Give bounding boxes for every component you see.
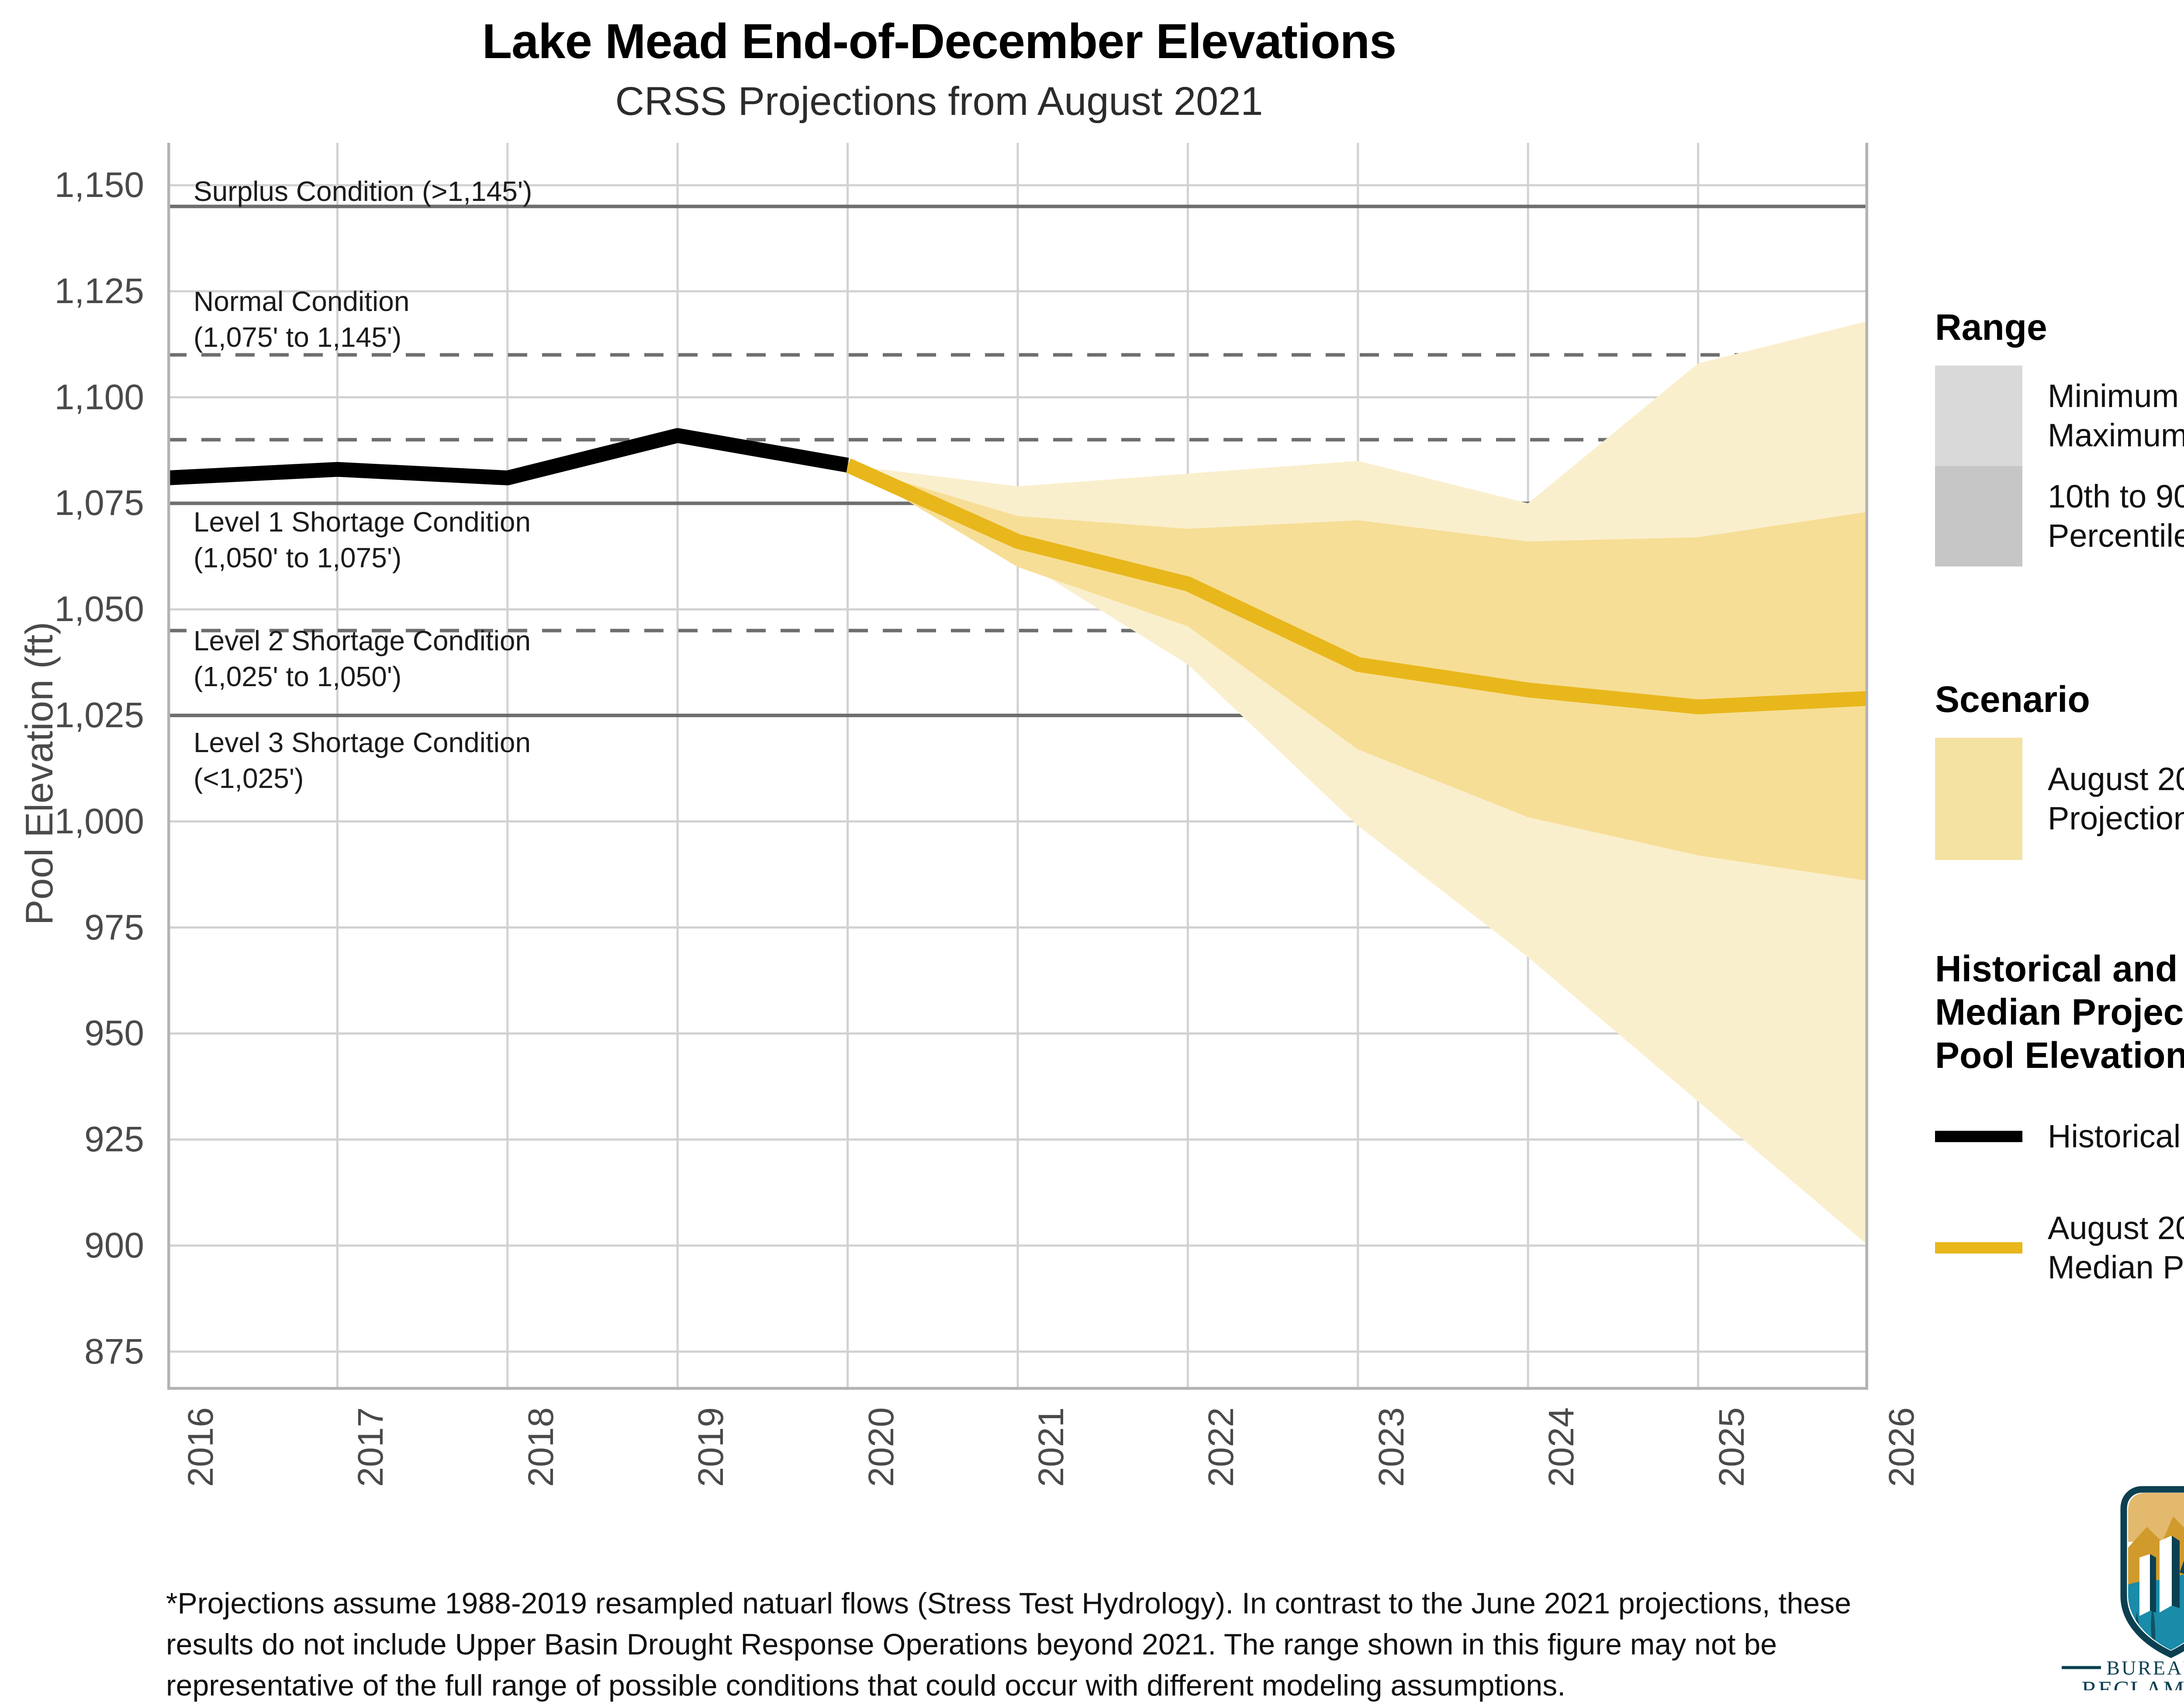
legend-item[interactable]: August 2021 CRSS Projections (1935, 738, 2184, 860)
x-tick-label: 2025 (1711, 1407, 1752, 1487)
y-axis-ticks: 8759009259509751,0001,0251,0501,0751,100… (0, 143, 144, 1390)
legend-scenario-title: Scenario (1935, 678, 2184, 721)
page-subtitle: CRSS Projections from August 2021 (0, 79, 1878, 124)
y-tick-label: 1,125 (0, 271, 144, 312)
legend-item[interactable]: Historical (1935, 1117, 2184, 1156)
y-tick-label: 1,025 (0, 695, 144, 736)
reclamation-shield-icon: BUREAU OF RECLAMATION (2035, 1485, 2184, 1690)
y-tick-label: 1,050 (0, 589, 144, 630)
x-tick-label: 2016 (180, 1407, 221, 1487)
y-tick-label: 975 (0, 907, 144, 948)
legend-series-title: Historical and Median Projected Pool Ele… (1935, 947, 2184, 1077)
y-tick-label: 900 (0, 1225, 144, 1266)
x-tick-label: 2026 (1881, 1407, 1922, 1487)
logo-line-1: BUREAU OF (2106, 1657, 2184, 1679)
y-tick-label: 925 (0, 1119, 144, 1160)
legend-panel: Range Minimum to Maximum10th to 90th Per… (1935, 306, 2184, 1287)
legend-item[interactable]: August 2021 CRSS Median Projected (1935, 1209, 2184, 1288)
legend-item-label: 10th to 90th Percentile (2048, 477, 2184, 556)
bureau-of-reclamation-logo: BUREAU OF RECLAMATION (2035, 1485, 2184, 1690)
y-tick-label: 1,075 (0, 483, 144, 524)
page-title: Lake Mead End-of-December Elevations (0, 13, 1878, 69)
y-tick-label: 1,100 (0, 377, 144, 418)
chart-canvas (167, 143, 1868, 1390)
footnote: *Projections assume 1988-2019 resampled … (166, 1583, 1870, 1706)
legend-item-label: Minimum to Maximum (2048, 376, 2184, 456)
legend-swatch (1935, 1242, 2022, 1254)
legend-item-label: August 2021 CRSS Projections (2048, 760, 2184, 839)
x-tick-label: 2023 (1371, 1407, 1412, 1487)
x-tick-label: 2021 (1031, 1407, 1072, 1487)
legend-item[interactable]: Minimum to Maximum (1935, 366, 2184, 466)
y-tick-label: 1,150 (0, 165, 144, 206)
x-tick-label: 2018 (521, 1407, 562, 1487)
logo-line-2: RECLAMATION (2082, 1676, 2184, 1690)
y-tick-label: 1,000 (0, 801, 144, 842)
legend-item-label: August 2021 CRSS Median Projected (2048, 1209, 2184, 1288)
legend-series-items: HistoricalAugust 2021 CRSS Median Projec… (1935, 1117, 2184, 1288)
legend-swatch (1935, 466, 2022, 566)
x-tick-label: 2020 (861, 1407, 902, 1487)
x-tick-label: 2024 (1541, 1407, 1582, 1487)
legend-range-items: Minimum to Maximum10th to 90th Percentil… (1935, 366, 2184, 566)
x-tick-label: 2022 (1201, 1407, 1242, 1487)
plot-area: Surplus Condition (>1,145')Normal Condit… (167, 143, 1868, 1390)
x-tick-label: 2019 (691, 1407, 732, 1487)
legend-scenario-items: August 2021 CRSS Projections (1935, 738, 2184, 860)
legend-item[interactable]: 10th to 90th Percentile (1935, 466, 2184, 566)
chart-page: Lake Mead End-of-December Elevations CRS… (0, 0, 2184, 1703)
y-tick-label: 950 (0, 1013, 144, 1054)
x-axis-ticks: 2016201720182019202020212022202320242025… (167, 1390, 1868, 1617)
legend-swatch (1935, 1131, 2022, 1142)
y-tick-label: 875 (0, 1331, 144, 1372)
legend-swatch (1935, 366, 2022, 466)
legend-swatch (1935, 738, 2022, 860)
legend-item-label: Historical (2048, 1117, 2181, 1156)
legend-range-title: Range (1935, 306, 2184, 349)
x-tick-label: 2017 (350, 1407, 391, 1487)
